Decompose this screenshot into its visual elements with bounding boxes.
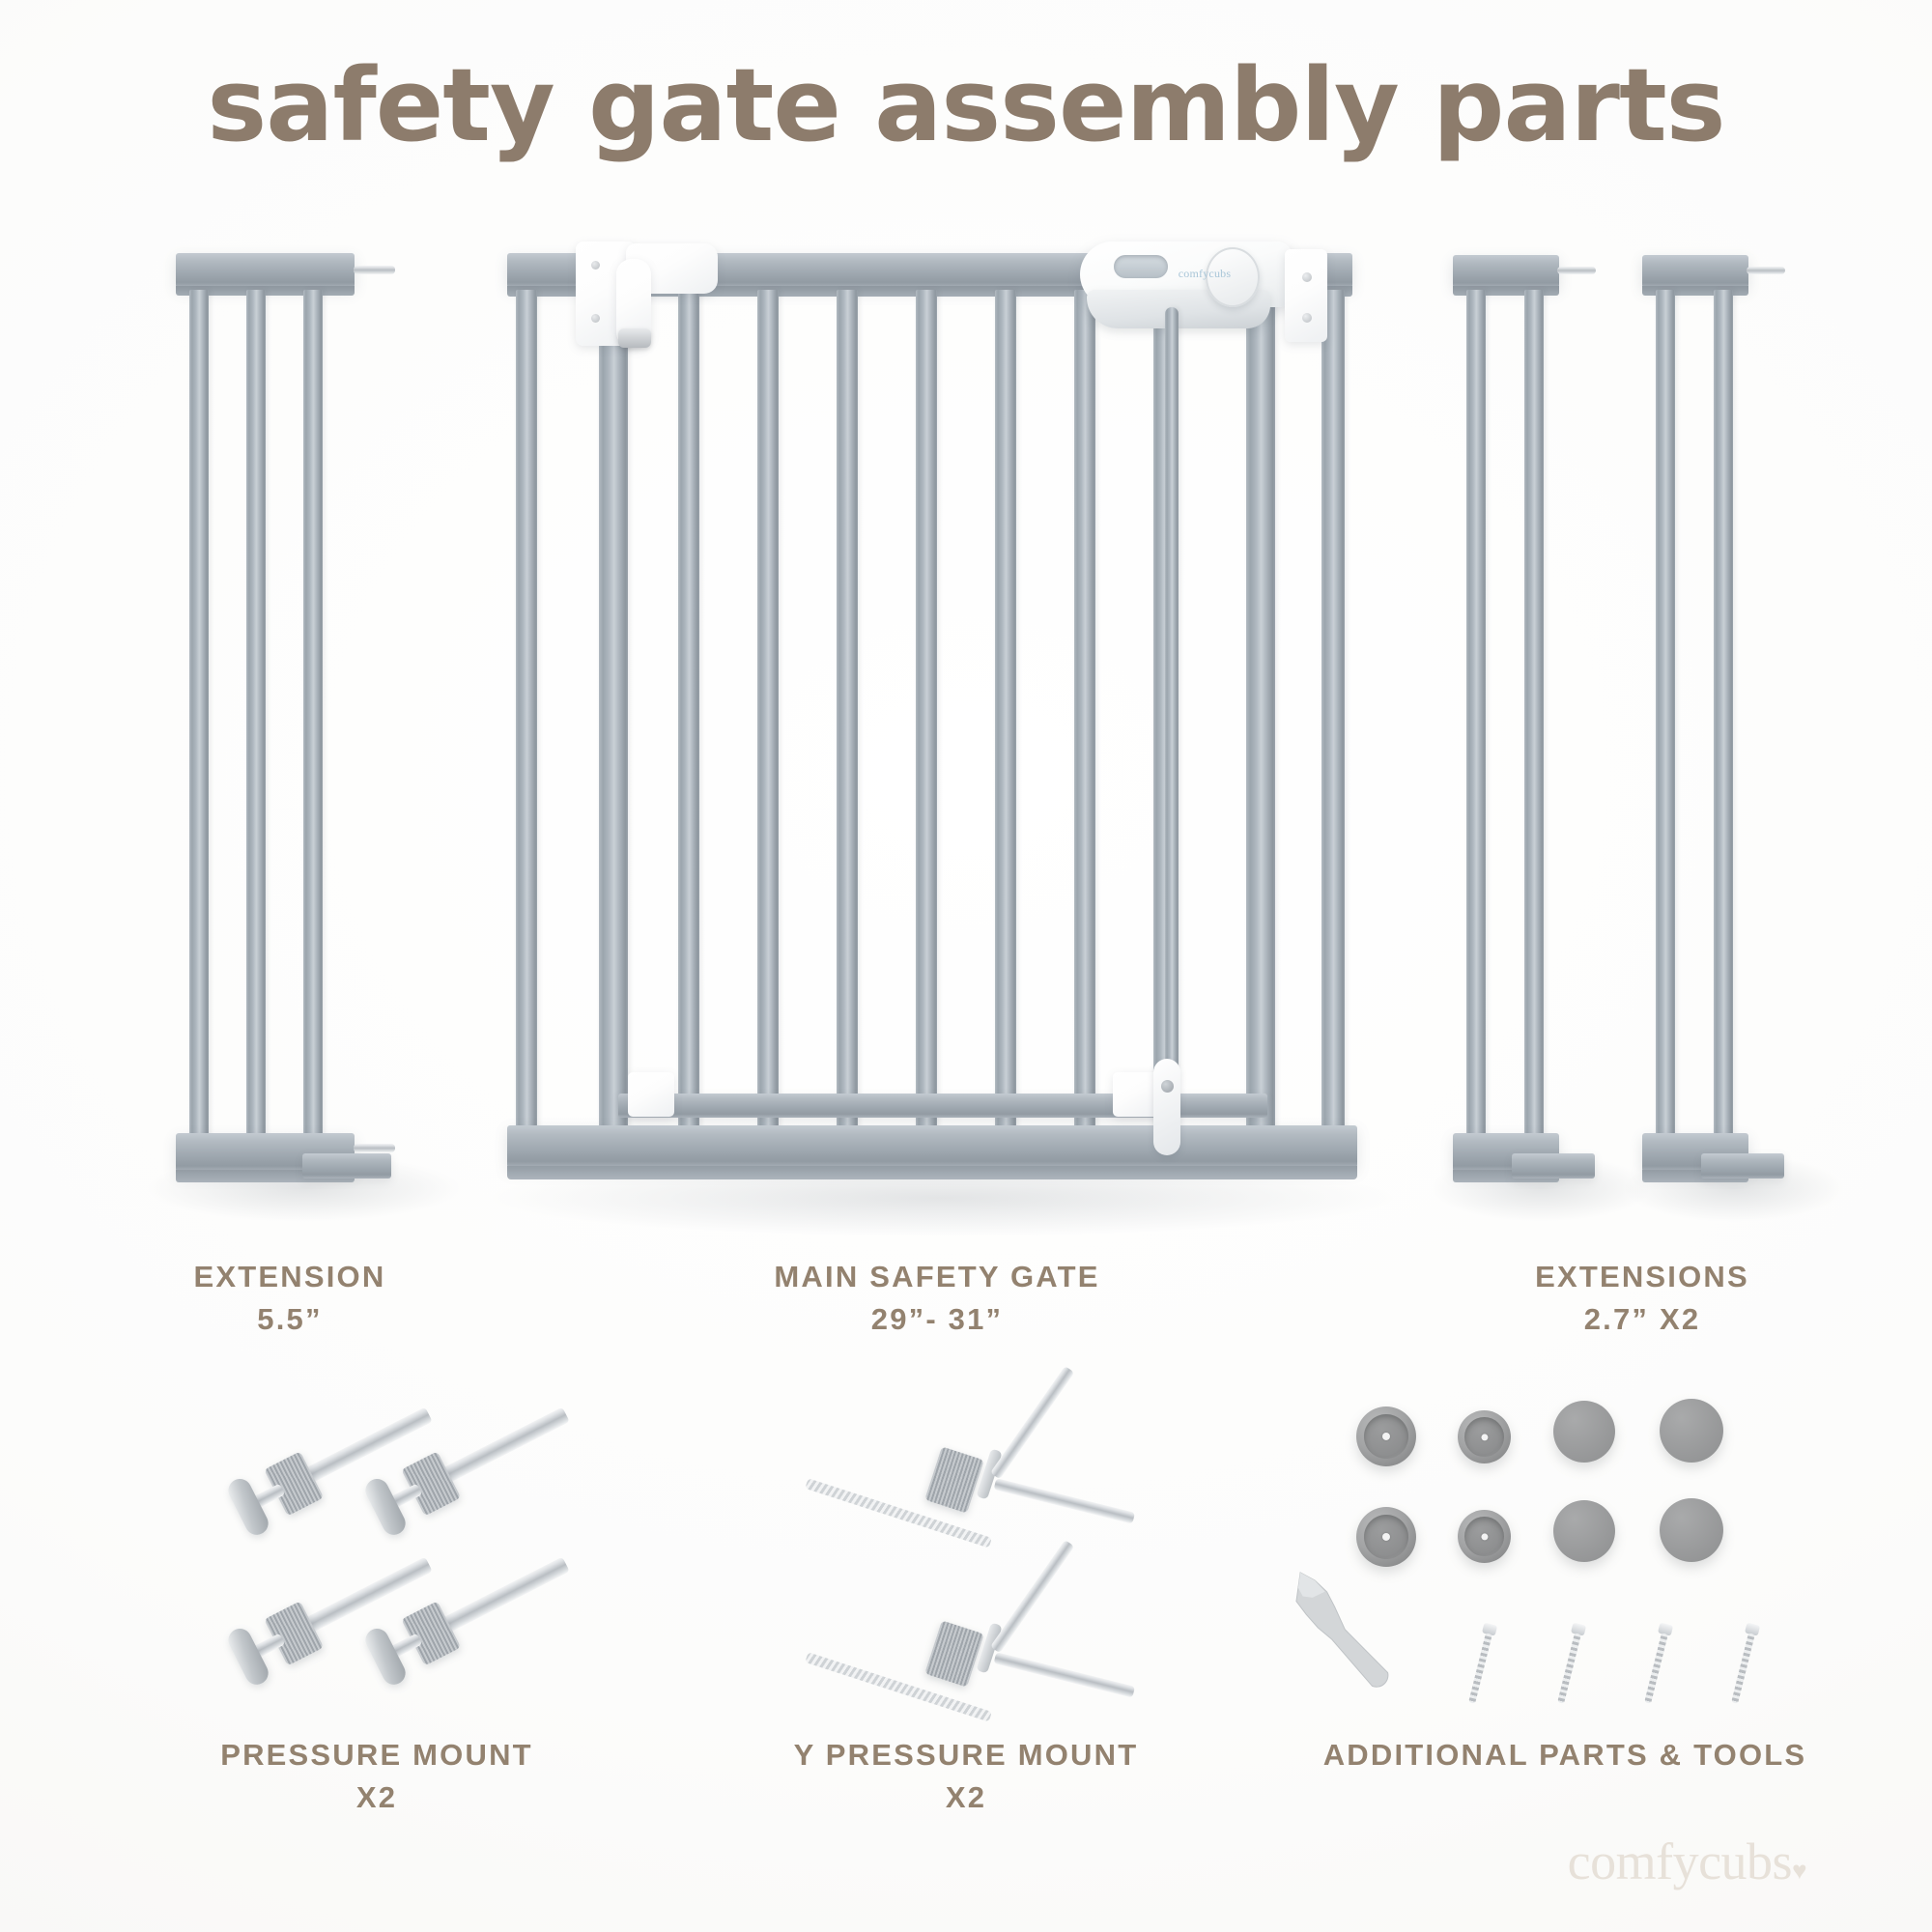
caption-pressure-mount: PRESSURE MOUNT X2 bbox=[77, 1734, 676, 1819]
caption-main-gate-title: MAIN SAFETY GATE bbox=[774, 1260, 1099, 1293]
bolt-shaft bbox=[435, 1557, 570, 1636]
extension-right-b-bar bbox=[1714, 290, 1733, 1140]
y-mount-knurled-nut bbox=[924, 1620, 984, 1687]
extension-left-bar bbox=[189, 290, 209, 1140]
caption-extensions-right-title: EXTENSIONS bbox=[1535, 1260, 1749, 1293]
y-mount-arm-upper bbox=[990, 1540, 1074, 1653]
latch-slide-button[interactable] bbox=[1114, 255, 1168, 278]
caption-y-pressure-mount: Y PRESSURE MOUNT X2 bbox=[667, 1734, 1265, 1819]
main-gate-bottom-latch-pin bbox=[1153, 1059, 1180, 1155]
brand-logo-text: comfycubs bbox=[1568, 1833, 1792, 1890]
main-gate-bar bbox=[837, 290, 858, 1135]
wall-cup bbox=[1458, 1410, 1511, 1463]
main-gate-bar bbox=[1074, 290, 1095, 1135]
hinge-pivot-cap bbox=[618, 328, 651, 348]
y-mount-arm-lower bbox=[994, 1478, 1136, 1523]
caption-main-gate-size: 29”- 31” bbox=[638, 1298, 1236, 1341]
caption-y-pressure-mount-size: X2 bbox=[667, 1776, 1265, 1819]
wall-cup bbox=[1356, 1507, 1416, 1567]
latch-bracket-screw-bottom bbox=[1302, 313, 1312, 323]
page-title: safety gate assembly parts bbox=[0, 50, 1932, 160]
y-mount-arm-lower bbox=[994, 1652, 1136, 1697]
main-gate-bottom-rail-face bbox=[507, 1166, 1357, 1179]
caption-additional-parts: ADDITIONAL PARTS & TOOLS bbox=[1256, 1734, 1874, 1776]
latch-bracket-screw-top bbox=[1302, 272, 1312, 282]
extension-left-foot-tab bbox=[302, 1153, 391, 1179]
extension-left-top-pin bbox=[354, 266, 395, 274]
wall-pad bbox=[1553, 1401, 1615, 1463]
hinge-screw-top bbox=[591, 261, 600, 270]
caption-extension-left-size: 5.5” bbox=[0, 1298, 580, 1341]
y-pressure-mount-unit bbox=[811, 1555, 1121, 1748]
caption-y-pressure-mount-title: Y PRESSURE MOUNT bbox=[794, 1738, 1139, 1772]
extension-right-a-top-pin bbox=[1557, 267, 1596, 274]
wall-pad bbox=[1660, 1498, 1723, 1562]
main-gate-bar bbox=[757, 290, 779, 1135]
brand-logo: comfycubs♥ bbox=[1568, 1832, 1806, 1891]
main-gate-bottom-latch-screw bbox=[1161, 1080, 1174, 1093]
wall-cup bbox=[1356, 1406, 1416, 1466]
extension-right-b-foot-tab bbox=[1701, 1153, 1784, 1179]
extension-right-b-top-rail bbox=[1642, 255, 1748, 288]
main-gate-bottom-stop-left bbox=[628, 1072, 674, 1117]
extension-left-top-rail bbox=[176, 253, 355, 288]
main-gate-bar bbox=[916, 290, 937, 1135]
caption-additional-parts-title: ADDITIONAL PARTS & TOOLS bbox=[1323, 1738, 1807, 1772]
wall-pad bbox=[1660, 1399, 1723, 1463]
latch-brand-mark: comfycubs bbox=[1171, 267, 1238, 281]
caption-pressure-mount-size: X2 bbox=[77, 1776, 676, 1819]
extension-left-bottom-pin bbox=[354, 1144, 395, 1152]
wall-pad bbox=[1553, 1500, 1615, 1562]
wall-cup bbox=[1458, 1510, 1511, 1563]
wrench-icon bbox=[1277, 1566, 1427, 1699]
bolt-knurled-nut bbox=[264, 1451, 324, 1516]
caption-extensions-right: EXTENSIONS 2.7” X2 bbox=[1352, 1256, 1932, 1341]
heart-icon: ♥ bbox=[1792, 1857, 1806, 1885]
bolt-shaft bbox=[435, 1407, 570, 1487]
main-gate-bar bbox=[678, 290, 699, 1135]
bolt-knurled-nut bbox=[401, 1601, 461, 1665]
extension-right-b-bar bbox=[1656, 290, 1675, 1140]
extension-right-a-foot-tab bbox=[1512, 1153, 1595, 1179]
main-gate-door-left-stile bbox=[599, 290, 628, 1130]
extension-right-a-top-rail bbox=[1453, 255, 1559, 288]
y-pressure-mount-unit bbox=[811, 1381, 1121, 1575]
latch-bracket bbox=[1285, 249, 1327, 342]
bolt-knurled-nut bbox=[401, 1451, 461, 1516]
latch-catch-rod bbox=[1165, 307, 1179, 1070]
hinge-screw-bottom bbox=[591, 314, 600, 323]
caption-main-gate: MAIN SAFETY GATE 29”- 31” bbox=[638, 1256, 1236, 1341]
caption-pressure-mount-title: PRESSURE MOUNT bbox=[220, 1738, 533, 1772]
y-mount-knurled-nut bbox=[924, 1446, 984, 1513]
extension-left-bar bbox=[246, 290, 266, 1140]
main-gate-left-post bbox=[516, 290, 537, 1140]
caption-extension-left: EXTENSION 5.5” bbox=[0, 1256, 580, 1341]
main-gate-door-right-stile bbox=[1246, 290, 1275, 1130]
y-mount-arm-upper bbox=[990, 1366, 1074, 1479]
extension-right-b-top-pin bbox=[1747, 267, 1785, 274]
caption-extension-left-title: EXTENSION bbox=[194, 1260, 386, 1293]
bolt-knurled-nut bbox=[264, 1601, 324, 1665]
caption-extensions-right-size: 2.7” X2 bbox=[1352, 1298, 1932, 1341]
main-gate-bar bbox=[995, 290, 1016, 1135]
main-gate-right-post bbox=[1321, 290, 1345, 1140]
main-gate-bottom-rail bbox=[507, 1125, 1357, 1168]
extension-right-a-bar bbox=[1466, 290, 1486, 1140]
extension-right-a-bar bbox=[1524, 290, 1544, 1140]
extension-left-bar bbox=[303, 290, 323, 1140]
